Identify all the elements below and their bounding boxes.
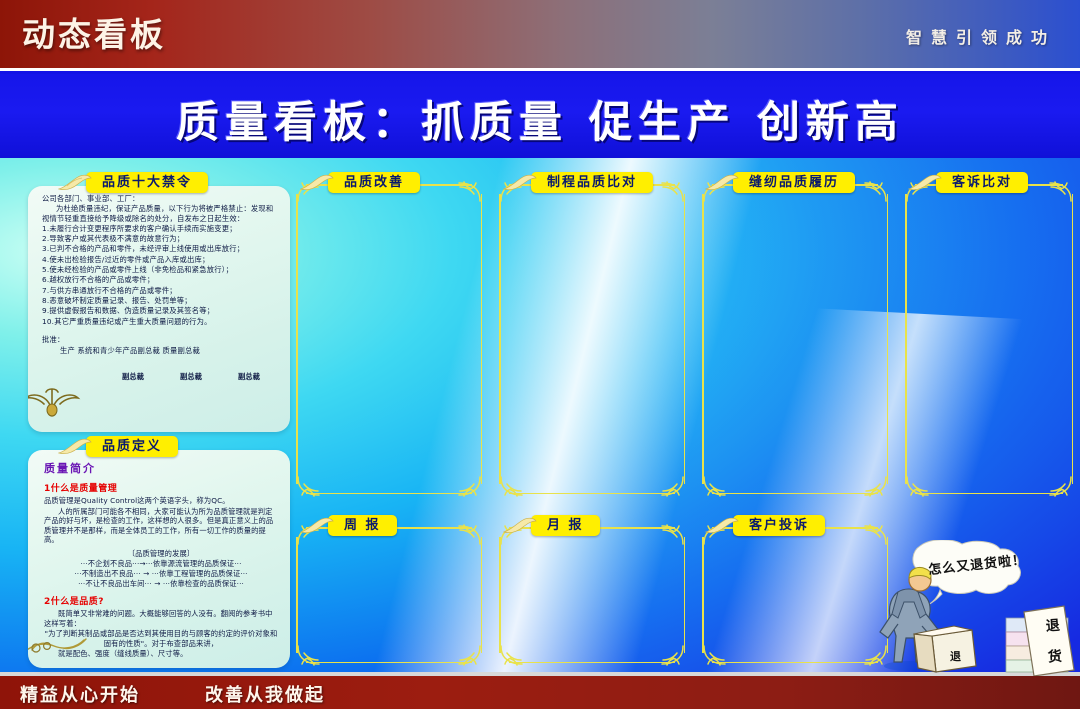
frame-fengren-pinzhi-lvli[interactable] xyxy=(702,184,888,494)
bird-icon xyxy=(58,173,92,193)
jinling-item: 8.恶意破坏制定质量记录、报告、处罚单等； xyxy=(42,296,280,305)
frame-edge-left xyxy=(702,194,704,484)
jinling-item: 4.使未出检验报告/过近的零件或产品入库或出库； xyxy=(42,255,280,264)
q2-title: 2什么是品质? xyxy=(44,594,278,607)
q2-paragraph: 既简单又非常难的问题。大概能够回答的人没有。翻阅的参考书中这样写着： xyxy=(44,609,278,628)
ornament-corner-icon xyxy=(700,476,726,498)
banner-label: 缝纫品质履历 xyxy=(733,172,855,193)
jinling-item: 2.导致客户或其代表极不满意的故意行为； xyxy=(42,234,280,243)
jinling-addressee: 公司各部门、事业部、工厂： xyxy=(42,194,280,203)
jinling-item: 9.提供虚假报告和数据、伪造质量记录及其签名等； xyxy=(42,306,280,315)
frame-yuebao[interactable] xyxy=(499,527,685,663)
signature-title: 副总裁 xyxy=(122,372,144,382)
jinling-item: 6.越权放行不合格的产品或零件； xyxy=(42,275,280,284)
banner-yuebao[interactable]: 月 报 xyxy=(503,515,600,536)
quality-intro-document: 质量简介 1什么是质量管理 品质管理是Quality Control这两个英语字… xyxy=(44,460,278,660)
frame-edge-bottom xyxy=(306,662,472,664)
ornament-corner-icon xyxy=(294,645,320,667)
frame-kesu-bidui[interactable] xyxy=(905,184,1073,494)
q1-title: 1什么是质量管理 xyxy=(44,481,278,494)
banner-label: 周 报 xyxy=(328,515,397,536)
frame-edge-right xyxy=(1072,194,1074,484)
card-pinzhi-shida-jinling[interactable]: 公司各部门、事业部、工厂： 为杜绝质量违纪，保证产品质量，以下行为将被严格禁止：… xyxy=(28,186,290,432)
jinling-item: 3.已判不合格的产品和零件，未经评审上线使用或出库放行； xyxy=(42,244,280,253)
quality-flow-line: ···不企划不良品···→···依靠源流管理的品质保证··· xyxy=(44,559,278,569)
banner-label: 品质十大禁令 xyxy=(86,172,208,193)
main-title-band: 质量看板：抓质量 促生产 创新高 xyxy=(0,74,1080,158)
ornament-corner-icon xyxy=(1049,180,1075,202)
signature-title: 副总裁 xyxy=(238,372,260,382)
ornament-corner-icon xyxy=(864,476,890,498)
banner-label: 制程品质比对 xyxy=(531,172,653,193)
ornament-corner-icon xyxy=(497,645,523,667)
footer-bar: 精益从心开始 改善从我做起 xyxy=(0,676,1080,709)
ornament-corner-icon xyxy=(661,180,687,202)
page-title: 动态看板 xyxy=(22,8,166,56)
frame-edge-bottom xyxy=(306,493,472,495)
frame-edge-left xyxy=(905,194,907,484)
footer-slogan-right: 改善从我做起 xyxy=(205,681,325,707)
ornament-corner-icon xyxy=(903,476,929,498)
jinling-item: 5.使未经检验的产品或零件上线（非免检品和紧急放行）； xyxy=(42,265,280,274)
ornament-corner-icon xyxy=(661,645,687,667)
flourish-ornament-icon xyxy=(28,632,96,662)
banner-kehu-tousu[interactable]: 客户投诉 xyxy=(705,515,825,536)
banner-pinzhi-shida-jinling[interactable]: 品质十大禁令 xyxy=(58,172,208,193)
frame-pinzhi-gaishan[interactable] xyxy=(296,184,482,494)
banner-zhoubao[interactable]: 周 报 xyxy=(300,515,397,536)
banner-pinzhi-gaishan[interactable]: 品质改善 xyxy=(300,172,420,193)
ornament-corner-icon xyxy=(1049,476,1075,498)
bird-icon xyxy=(58,437,92,457)
banner-kesu-bidui[interactable]: 客诉比对 xyxy=(908,172,1028,193)
frame-kehu-tousu[interactable] xyxy=(702,527,888,663)
ornament-corner-icon xyxy=(458,476,484,498)
jinling-item: 1.未履行合计变更程序所要求的客户确认手续而实施变更； xyxy=(42,224,280,233)
q1-paragraph: 人的所属部门可能各不相同，大家可能认为所为品质管理就是判定产品的好与坏，是检查的… xyxy=(44,507,278,545)
card-pinzhi-dingyi[interactable]: 质量简介 1什么是质量管理 品质管理是Quality Control这两个英语字… xyxy=(28,450,290,668)
quality-dev-subtitle: 〔品质管理的发展〕 xyxy=(44,549,278,559)
ornament-corner-icon xyxy=(458,523,484,545)
bird-icon xyxy=(300,173,334,193)
frame-edge-bottom xyxy=(712,493,878,495)
quality-flow-line: ···不让不良品出车间··· → ···依靠检查的品质保证··· xyxy=(44,579,278,589)
banner-label: 客诉比对 xyxy=(936,172,1028,193)
banner-label: 客户投诉 xyxy=(733,515,825,536)
ornament-corner-icon xyxy=(864,180,890,202)
quality-kanban-board: 动态看板 智慧引领成功 质量看板：抓质量 促生产 创新高 品质十大禁令 品质改善 xyxy=(0,0,1080,709)
jinling-document: 公司各部门、事业部、工厂： 为杜绝质量违纪，保证产品质量，以下行为将被严格禁止：… xyxy=(42,194,280,402)
frame-edge-right xyxy=(684,194,686,484)
worker-illustration: 怎么又退货啦！ 退 退 货 xyxy=(868,540,1080,676)
frame-edge-right xyxy=(887,194,889,484)
ornament-corner-icon xyxy=(458,645,484,667)
signature-title: 副总裁 xyxy=(180,372,202,382)
banner-pinzhi-dingyi[interactable]: 品质定义 xyxy=(58,436,178,457)
frame-zhoubao[interactable] xyxy=(296,527,482,663)
footer-slogan-left: 精益从心开始 xyxy=(20,681,140,707)
banner-label: 品质定义 xyxy=(86,436,178,457)
banner-label: 月 报 xyxy=(531,515,600,536)
frame-edge-bottom xyxy=(915,493,1063,495)
frame-edge-bottom xyxy=(712,662,878,664)
bird-icon xyxy=(705,516,739,536)
paper-label: 退 货 xyxy=(1041,617,1065,669)
frame-edge-left xyxy=(499,537,501,653)
frame-edge-left xyxy=(296,537,298,653)
frame-edge-left xyxy=(702,537,704,653)
bird-icon xyxy=(300,516,334,536)
ornament-corner-icon xyxy=(294,476,320,498)
ornament-corner-icon xyxy=(661,476,687,498)
bird-icon xyxy=(503,516,537,536)
carton-label: 退 xyxy=(950,648,961,664)
banner-label: 品质改善 xyxy=(328,172,420,193)
frame-edge-right xyxy=(481,537,483,653)
bird-icon xyxy=(503,173,537,193)
bird-icon xyxy=(908,173,942,193)
ornament-corner-icon xyxy=(661,523,687,545)
flourish-ornament-icon xyxy=(28,384,84,422)
bird-icon xyxy=(705,173,739,193)
frame-edge-bottom xyxy=(509,493,675,495)
frame-edge-right xyxy=(481,194,483,484)
ornament-corner-icon xyxy=(497,476,523,498)
frame-edge-left xyxy=(499,194,501,484)
banner-zhicheng-pinzhi-bidui[interactable]: 制程品质比对 xyxy=(503,172,653,193)
frame-zhicheng-pinzhi-bidui[interactable] xyxy=(499,184,685,494)
frame-edge-right xyxy=(684,537,686,653)
ornament-corner-icon xyxy=(700,645,726,667)
ornament-corner-icon xyxy=(458,180,484,202)
jinling-approve-label: 批准： xyxy=(42,335,280,344)
jinling-approvers: 生产 系统和青少年产品副总裁 质量副总裁 xyxy=(42,346,280,355)
frame-edge-bottom xyxy=(509,662,675,664)
board-stage: 品质十大禁令 品质改善 制程品质比对 缝纫品质履历 客诉比对 xyxy=(0,158,1080,676)
top-header-bar: 动态看板 智慧引领成功 xyxy=(0,0,1080,68)
jinling-item: 10.其它严重质量违纪或产生重大质量问题的行为。 xyxy=(42,317,280,326)
q1-paragraph: 品质管理是Quality Control这两个英语字头，称为QC。 xyxy=(44,496,278,506)
frame-edge-left xyxy=(296,194,298,484)
jinling-intro: 为杜绝质量违纪，保证产品质量，以下行为将被严格禁止：发现和视情节轻重直接给予降级… xyxy=(42,204,280,223)
banner-fengren-pinzhi-lvli[interactable]: 缝纫品质履历 xyxy=(705,172,855,193)
header-slogan: 智慧引领成功 xyxy=(906,24,1056,48)
quality-intro-heading: 质量简介 xyxy=(44,460,278,476)
jinling-item: 7.与供方串通放行不合格的产品或零件； xyxy=(42,286,280,295)
main-title: 质量看板：抓质量 促生产 创新高 xyxy=(0,88,1080,150)
quality-flow-line: ···不制造出不良品··· → ···依靠工程管理的品质保证··· xyxy=(44,569,278,579)
